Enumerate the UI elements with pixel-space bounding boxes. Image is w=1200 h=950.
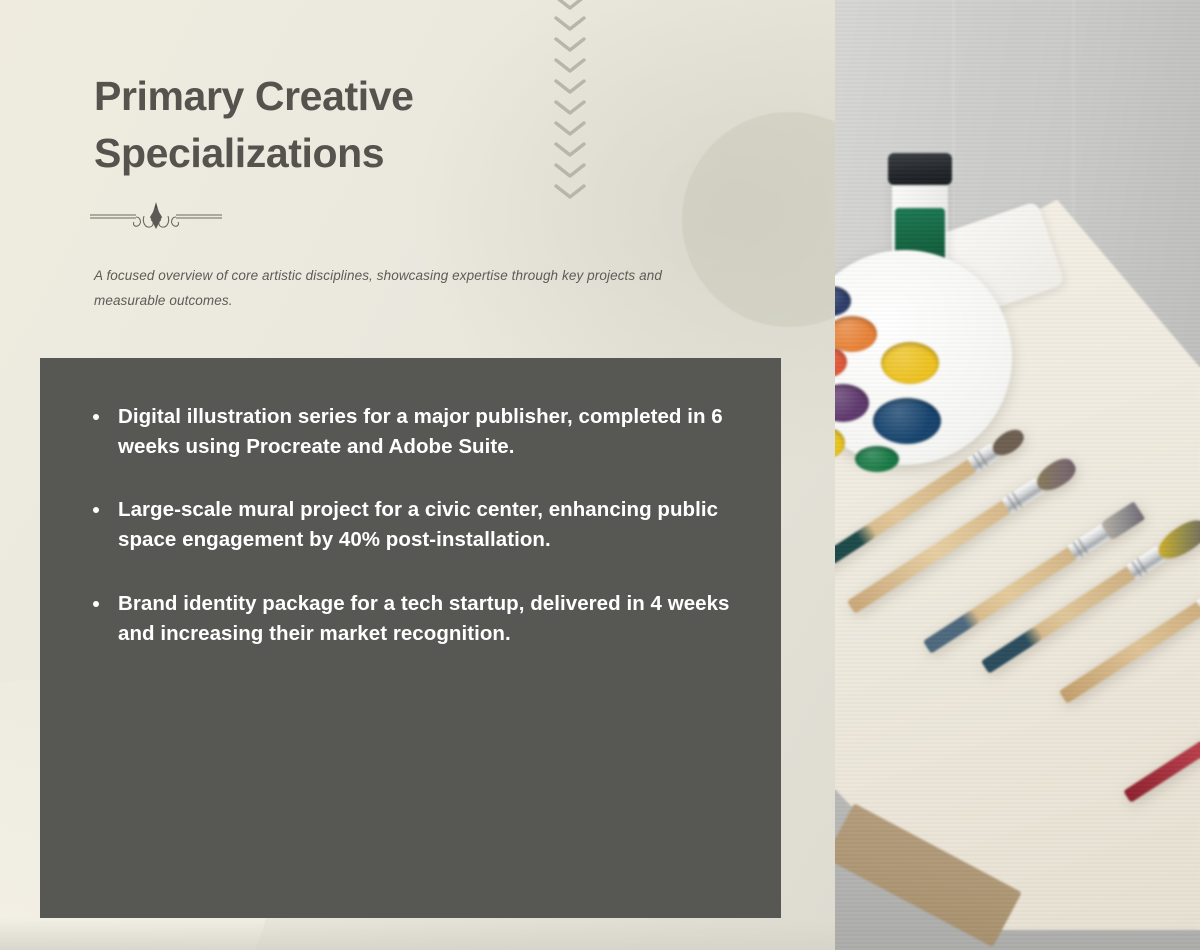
- list-item: Digital illustration series for a major …: [82, 402, 739, 462]
- list-item-text: Digital illustration series for a major …: [118, 405, 723, 458]
- photo-palette-well: [835, 384, 869, 422]
- list-item-text: Brand identity package for a tech startu…: [118, 592, 730, 645]
- ornamental-fleuron-divider-icon: [88, 200, 224, 234]
- bullet-list: Digital illustration series for a major …: [82, 402, 739, 649]
- page-title: Primary Creative Specializations: [94, 68, 524, 181]
- bullet-point-icon: [93, 601, 99, 607]
- bullet-point-icon: [93, 507, 99, 513]
- chevron-down-icon: [553, 78, 587, 95]
- chevron-down-icon: [553, 99, 587, 116]
- chevron-down-icon: [553, 141, 587, 158]
- decorative-bottom-band: [0, 918, 835, 950]
- list-item: Brand identity package for a tech startu…: [82, 589, 739, 649]
- chevron-down-icon: [553, 15, 587, 32]
- chevron-down-icon: [553, 0, 587, 11]
- photo-palette-well: [873, 398, 941, 444]
- bullet-content-box: Digital illustration series for a major …: [40, 358, 781, 918]
- title-line-2: Specializations: [94, 125, 524, 182]
- presentation-slide: Primary Creative Specializations A focus…: [0, 0, 1200, 950]
- photo-palette-well: [835, 286, 851, 316]
- photo-paint-bottle-cap: [888, 153, 952, 185]
- chevron-down-icon: [553, 57, 587, 74]
- photo-palette-well: [881, 342, 939, 384]
- photo-palette-well: [835, 316, 877, 352]
- decorative-photo-paintbrushes: [835, 0, 1200, 950]
- list-item-text: Large-scale mural project for a civic ce…: [118, 498, 718, 551]
- chevron-down-icon: [553, 162, 587, 179]
- title-line-1: Primary Creative: [94, 68, 524, 125]
- chevron-down-icon: [553, 120, 587, 137]
- bullet-point-icon: [93, 414, 99, 420]
- chevron-down-icon: [553, 183, 587, 200]
- list-item: Large-scale mural project for a civic ce…: [82, 495, 739, 555]
- chevron-down-icon: [553, 36, 587, 53]
- slide-subtitle: A focused overview of core artistic disc…: [94, 264, 719, 314]
- photo-palette-well: [855, 446, 899, 472]
- chevron-decoration-column: [553, 0, 587, 204]
